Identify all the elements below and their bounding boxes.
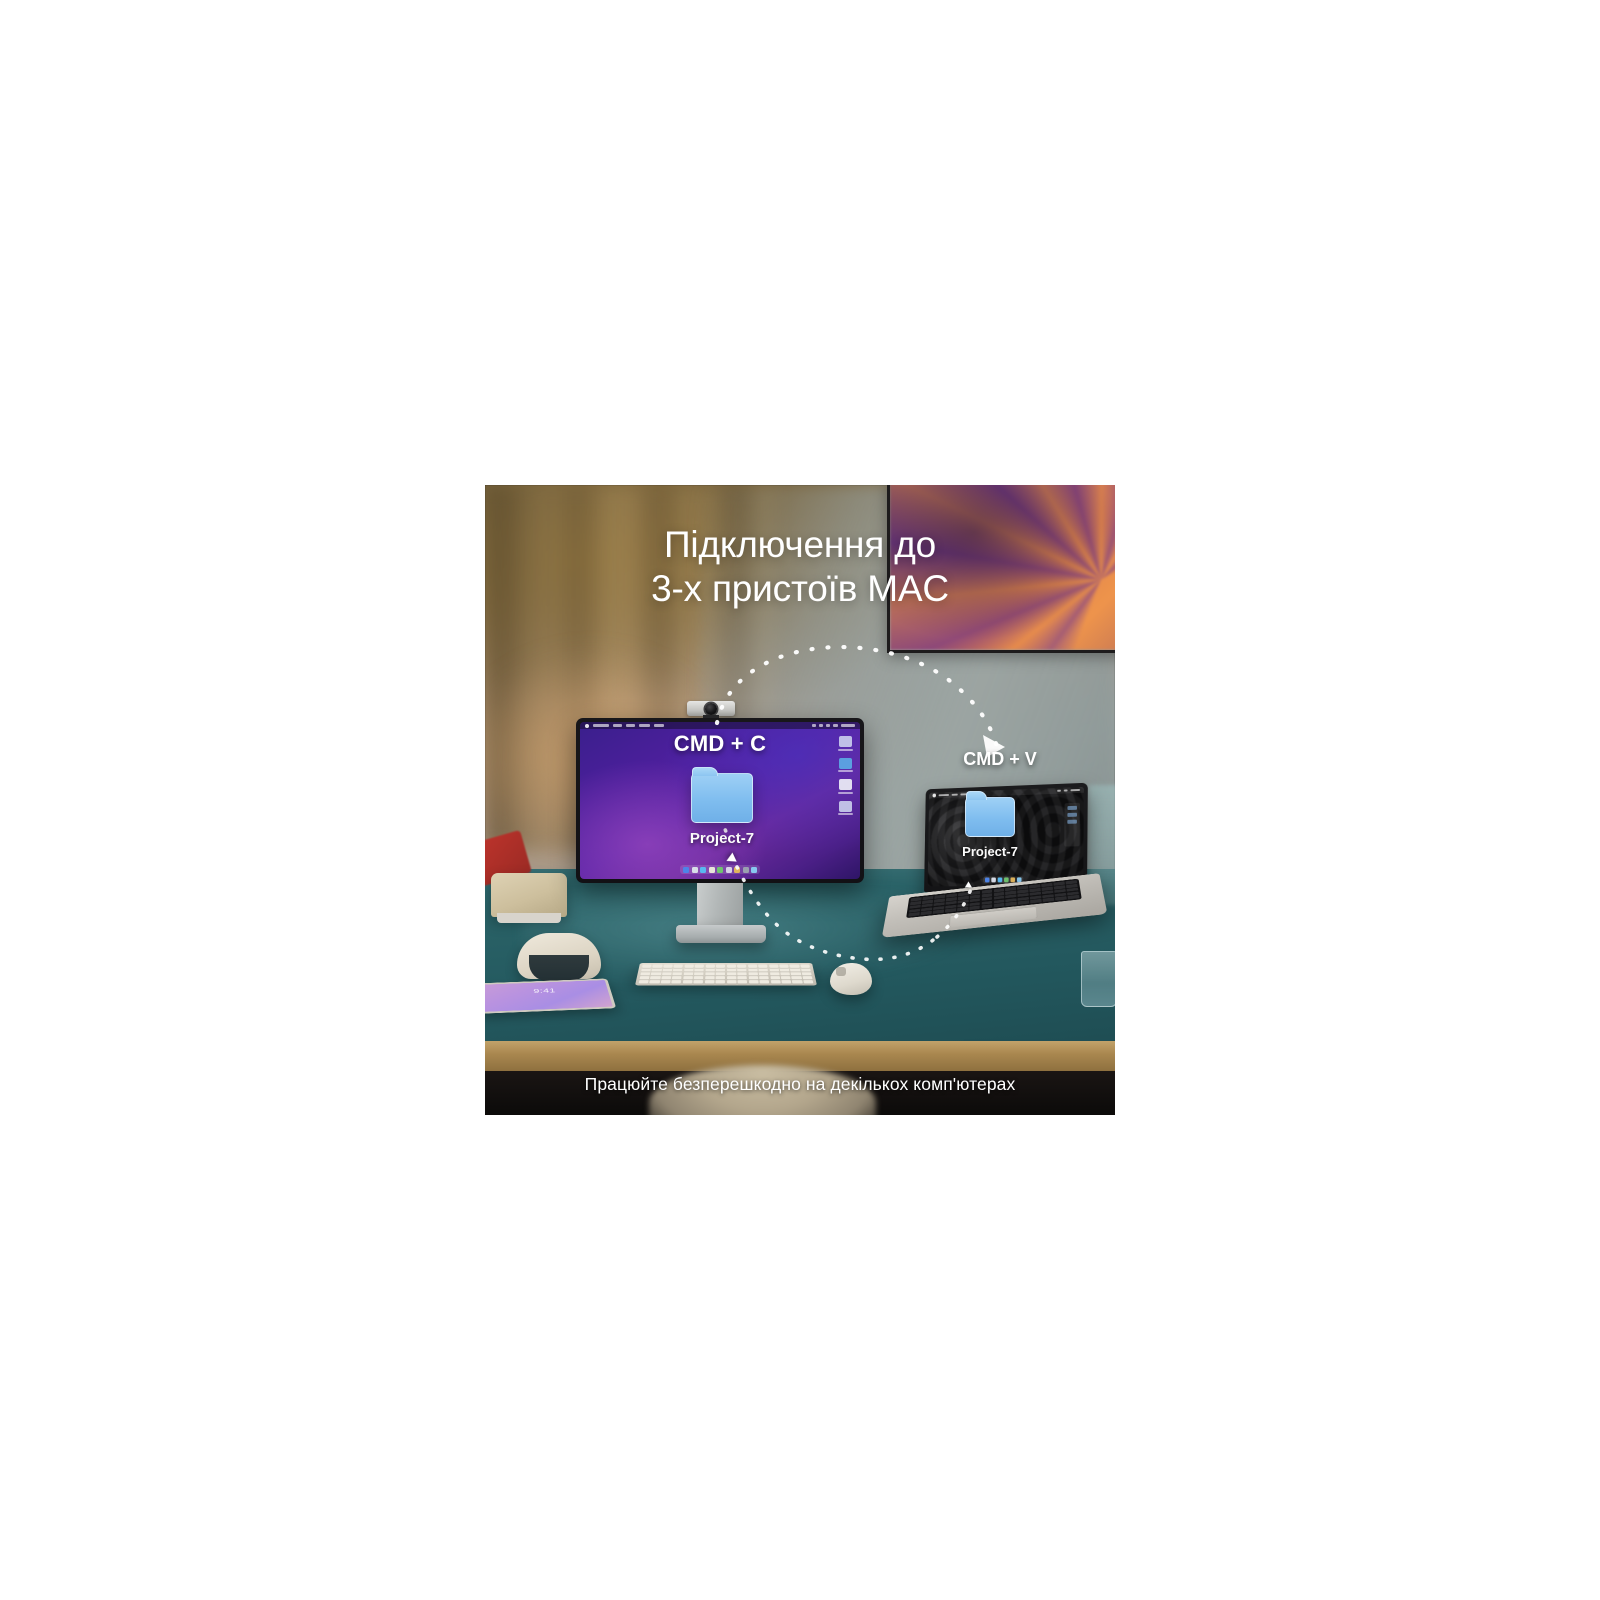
menu-item-edit[interactable]	[626, 724, 635, 727]
desk-mouse[interactable]	[830, 963, 872, 995]
page-title: Підключення до 3-х пристоїв MAC	[485, 523, 1115, 610]
menu-bar-clock[interactable]	[1070, 789, 1080, 792]
search-icon[interactable]	[833, 724, 838, 727]
monitor-shortcut-label: CMD + C	[625, 731, 815, 757]
folder-icon[interactable]	[691, 773, 753, 823]
headline-line-2: 3-х пристоїв MAC	[485, 567, 1115, 611]
dock-finder-icon[interactable]	[985, 878, 990, 883]
menu-item-file[interactable]	[952, 793, 958, 796]
dock-launchpad-icon[interactable]	[991, 878, 996, 883]
monitor-menu-bar[interactable]	[580, 722, 860, 729]
webcam-icon	[687, 701, 735, 716]
menu-item-go[interactable]	[654, 724, 664, 727]
laptop-folder-name: Project-7	[957, 844, 1023, 859]
dock-messages-icon[interactable]	[717, 867, 723, 873]
speaker-base	[497, 913, 561, 923]
monitor-desktop-icons[interactable]	[838, 736, 853, 815]
tablet-clock: 9:41	[533, 988, 556, 995]
dock-settings-icon[interactable]	[743, 867, 749, 873]
page-root: 9:41	[0, 0, 1600, 1600]
desk-speaker	[491, 873, 567, 917]
monitor-dock[interactable]	[680, 865, 760, 874]
desktop-icon-label	[838, 792, 853, 794]
preview-icon	[839, 736, 852, 747]
menu-item-view[interactable]	[639, 724, 650, 727]
headphones	[517, 933, 601, 979]
product-photo-card: 9:41	[485, 485, 1115, 1115]
dock-music-icon[interactable]	[734, 867, 740, 873]
battery-icon[interactable]	[1064, 789, 1068, 792]
dock-safari-icon[interactable]	[700, 867, 706, 873]
dock-mail-icon[interactable]	[709, 867, 715, 873]
dock-notes-icon[interactable]	[726, 867, 732, 873]
menu-item-finder[interactable]	[593, 724, 609, 727]
desktop-icon-label	[838, 749, 853, 751]
laptop-status-items[interactable]	[1057, 789, 1080, 792]
dock-safari-icon[interactable]	[998, 877, 1003, 882]
menu-item-finder[interactable]	[939, 794, 949, 797]
desktop-icon-label	[838, 813, 853, 815]
monitor-stand-foot	[676, 925, 766, 943]
laptop-folder-item[interactable]: Project-7	[957, 797, 1023, 859]
tablet-device: 9:41	[485, 978, 616, 1013]
dock-messages-icon[interactable]	[1004, 877, 1009, 882]
water-glass	[1081, 951, 1115, 1007]
panel-row	[1067, 820, 1077, 824]
wifi-icon[interactable]	[1057, 789, 1061, 792]
battery-icon[interactable]	[819, 724, 823, 727]
menu-bar-clock[interactable]	[841, 724, 855, 727]
dock-folder-icon[interactable]	[751, 867, 757, 873]
webcam-lens-icon	[705, 703, 717, 715]
bottom-caption: Працюйте безперешкодно на декількох комп…	[485, 1053, 1115, 1115]
desktop-icon-preview[interactable]	[838, 736, 853, 751]
blue-folder-icon	[839, 758, 852, 769]
laptop-shortcut-label: CMD + V	[905, 749, 1095, 770]
monitor-folder-name: Project-7	[680, 830, 764, 847]
document-icon	[839, 779, 852, 790]
apple-menu-icon[interactable]	[933, 794, 937, 798]
desktop-icon-label	[838, 770, 853, 772]
apple-menu-icon[interactable]	[585, 724, 589, 728]
panel-row	[1067, 806, 1077, 810]
desktop-icon-screenshot[interactable]	[838, 801, 853, 816]
control-center-icon[interactable]	[826, 724, 830, 727]
folder-icon[interactable]	[965, 797, 1015, 837]
monitor-folder-item[interactable]: Project-7	[680, 773, 764, 847]
screenshot-icon	[839, 801, 852, 812]
menu-item-file[interactable]	[613, 724, 622, 727]
desk-keyboard[interactable]	[635, 963, 817, 985]
wifi-icon[interactable]	[812, 724, 816, 727]
monitor-stand-neck	[697, 883, 743, 931]
panel-row	[1067, 813, 1077, 817]
dock-finder-icon[interactable]	[683, 867, 689, 873]
laptop-side-panel[interactable]	[1064, 803, 1080, 847]
dock-launchpad-icon[interactable]	[692, 867, 698, 873]
desktop-icon-folder[interactable]	[838, 758, 853, 773]
headline-line-1: Підключення до	[664, 524, 936, 565]
desktop-icon-document[interactable]	[838, 779, 853, 794]
menu-bar-status-items[interactable]	[812, 724, 855, 727]
